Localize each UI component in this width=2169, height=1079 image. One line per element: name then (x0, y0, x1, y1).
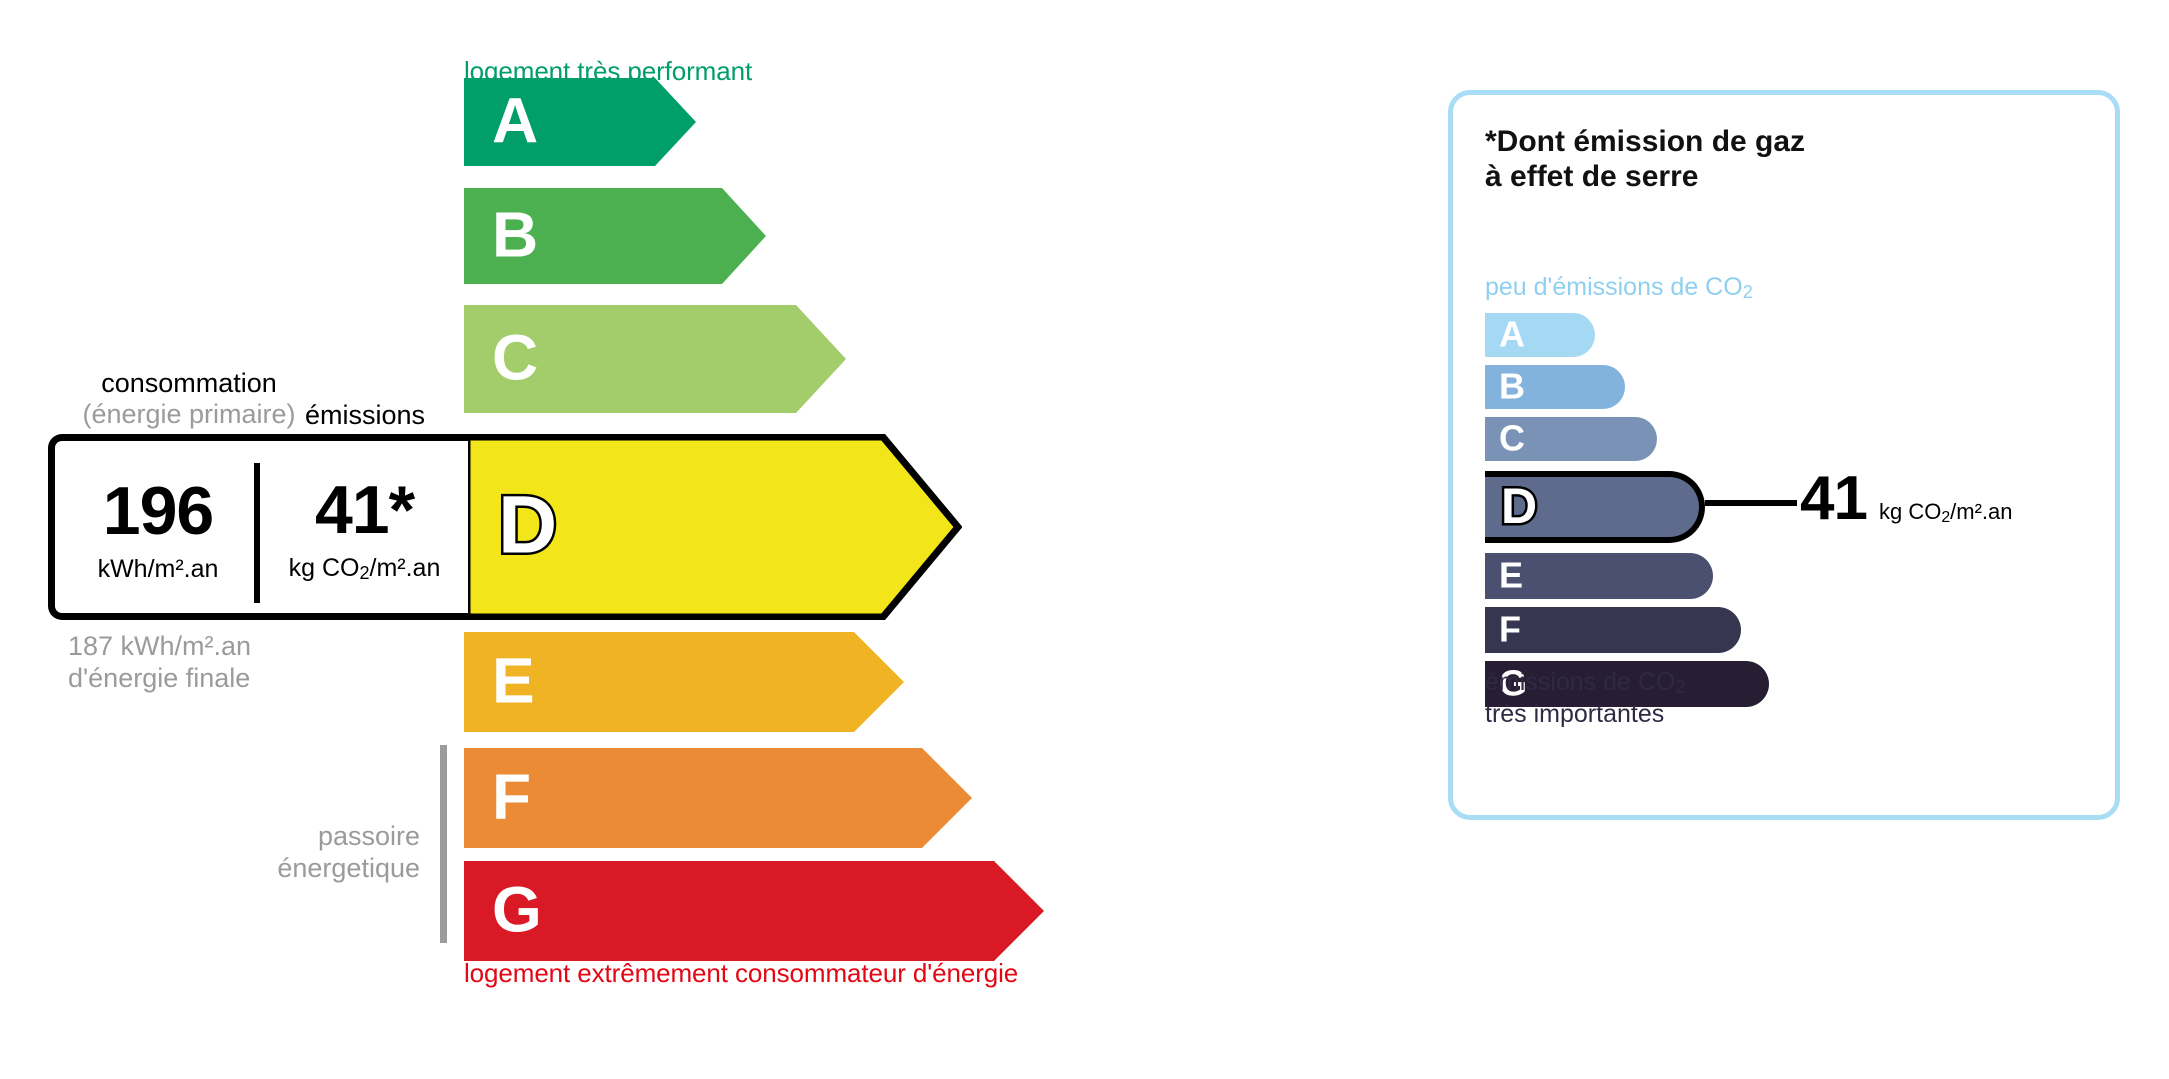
co2-bar-shape-e: E (1485, 553, 1713, 599)
co2-bar-e: E (1485, 553, 1713, 599)
final-energy-line1: 187 kWh/m².an (68, 631, 251, 661)
energy-bottom-caption: logement extrêmement consommateur d'éner… (464, 958, 1018, 989)
energy-bar-letter-d: D (498, 484, 557, 566)
energy-bar-f: F (464, 748, 972, 848)
consumption-value-cell: 196 kWh/m².an (55, 441, 261, 613)
co2-leader-line (1705, 500, 1797, 506)
energy-bar-letter-b: B (492, 203, 538, 267)
consumption-label-sub: (énergie primaire) (64, 399, 314, 430)
co2-bar-shape-b: B (1485, 365, 1625, 409)
co2-bar-letter-a: A (1499, 316, 1525, 352)
co2-panel-title: *Dont émission de gaz à effet de serre (1485, 125, 1805, 194)
passoire-line1: passoire (318, 821, 420, 851)
co2-title-line1: *Dont émission de gaz (1485, 125, 1805, 158)
consumption-unit: kWh/m².an (98, 555, 219, 584)
emissions-unit: kg CO2/m².an (289, 554, 441, 584)
energy-bar-d-selected: D (464, 434, 962, 620)
co2-bar-b: B (1485, 365, 1625, 409)
co2-bar-letter-b: B (1499, 368, 1525, 404)
energy-bar-letter-f: F (492, 765, 531, 829)
co2-bar-f: F (1485, 607, 1741, 653)
co2-value-callout: 41 kg CO2/m².an (1800, 468, 2013, 530)
energy-arrow-shape-f (464, 748, 972, 848)
co2-bottom-line2: très importantes (1485, 700, 1664, 728)
energy-performance-chart: logement très performant A B (0, 0, 1420, 1079)
passoire-line2: énergetique (277, 853, 420, 883)
energy-value-box: 196 kWh/m².an 41* kg CO2/m².an (48, 434, 468, 620)
energy-bar-letter-a: A (492, 89, 538, 153)
co2-bar-letter-d: D (1501, 481, 1537, 531)
co2-bar-c: C (1485, 417, 1657, 461)
energy-bar-letter-g: G (492, 878, 542, 942)
co2-value-unit: kg CO2/m².an (1879, 499, 2013, 527)
co2-bar-d-selected: D (1485, 471, 1705, 543)
passoire-bracket (440, 745, 447, 943)
co2-bar-letter-e: E (1499, 557, 1523, 593)
consumption-value: 196 (103, 477, 213, 545)
passoire-label: passoire énergetique (180, 820, 420, 885)
co2-emissions-panel: *Dont émission de gaz à effet de serre p… (1448, 90, 2120, 820)
energy-bar-c: C (464, 305, 846, 413)
co2-bar-a: A (1485, 313, 1595, 357)
co2-bar-shape-d: D (1485, 471, 1705, 543)
co2-value-number: 41 (1800, 468, 1867, 530)
final-energy-line2: d'énergie finale (68, 663, 250, 693)
co2-bottom-caption: émissions de CO2 très importantes (1485, 667, 1685, 729)
co2-bar-shape-c: C (1485, 417, 1657, 461)
energy-bar-b: B (464, 188, 766, 284)
co2-bar-letter-f: F (1499, 611, 1521, 647)
co2-top-caption: peu d'émissions de CO2 (1485, 273, 1753, 303)
consumption-label-main: consommation (101, 368, 277, 398)
energy-bar-e: E (464, 632, 904, 732)
value-box-divider (254, 463, 260, 603)
co2-bar-shape-a: A (1485, 313, 1595, 357)
consumption-label: consommation (énergie primaire) (64, 368, 314, 431)
energy-bar-a: A (464, 78, 696, 166)
energy-bar-g: G (464, 861, 1044, 961)
co2-bottom-line1: émissions de CO2 (1485, 668, 1685, 696)
energy-arrow-shape-g (464, 861, 1044, 961)
energy-bar-letter-e: E (492, 649, 535, 713)
co2-title-line2: à effet de serre (1485, 160, 1698, 193)
co2-bar-letter-c: C (1499, 420, 1525, 456)
dpe-infographic: logement très performant A B (0, 0, 2169, 1079)
final-energy-note: 187 kWh/m².an d'énergie finale (68, 630, 251, 695)
emissions-value-cell: 41* kg CO2/m².an (261, 441, 468, 613)
co2-bar-shape-f: F (1485, 607, 1741, 653)
emissions-label: émissions (305, 400, 425, 431)
emissions-value: 41* (315, 476, 414, 544)
energy-bar-letter-c: C (492, 326, 538, 390)
